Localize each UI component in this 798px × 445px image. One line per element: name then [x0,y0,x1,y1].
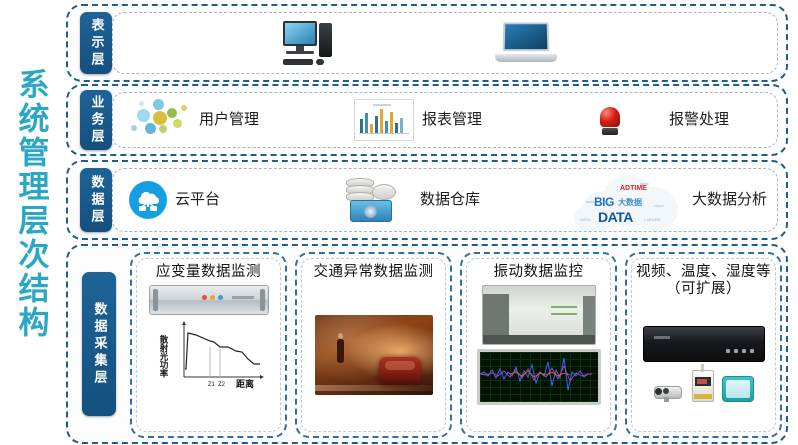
big-data-analysis-label: 大数据分析 [692,191,767,208]
database-disk-icon [344,178,396,222]
strain-chart-xlabel: 距离 [236,378,254,389]
item-desktop-computer[interactable] [283,21,335,65]
alarm-beacon-icon [599,105,621,135]
user-management-label: 用户管理 [199,111,259,128]
waveform-svg [480,352,592,396]
acquisition-cards: 应变量数据监测 [130,252,782,438]
desktop-computer-icon [283,21,335,65]
item-report-management[interactable]: 报表管理 [354,99,599,141]
strain-chart: Z1 Z2 距离 散射光功率 [150,319,268,391]
item-laptop-computer[interactable] [495,22,557,64]
strain-chart-ylabel: 散射光功率 [159,335,169,379]
dvr-recorder-icon [643,326,765,362]
card-strain-monitoring[interactable]: 应变量数据监测 [130,252,287,438]
layer-label-data: 数据层 [80,168,112,232]
sensor-row [654,370,754,402]
alarm-handling-label: 报警处理 [669,111,729,128]
bar-chart-icon [354,99,414,141]
cloud-platform-label: 云平台 [175,191,220,208]
layer-data-content: 云平台 数据仓库 [112,168,778,232]
card-title: 视频、温度、湿度等 （可扩展） [636,264,771,299]
strain-chart-svg: Z1 Z2 距离 散射光功率 [150,319,268,391]
vibration-equipment-photo [482,285,596,345]
card-video-temp-humidity[interactable]: 视频、温度、湿度等 （可扩展） [625,252,782,438]
card-vibration-monitoring[interactable]: 振动数据监控 [460,252,617,438]
page-title-text: 系统管理层次结构 [15,68,46,340]
layer-business-content: 用户管理 [112,92,778,148]
diagram-root: 系统管理层次结构 表示层 [0,0,798,445]
report-management-label: 报表管理 [422,111,482,128]
camera-icon [654,384,684,402]
bubble-network-icon [129,99,191,141]
tunnel-traffic-photo [315,315,433,395]
card-traffic-anomaly-monitoring[interactable]: 交通异常数据监测 [295,252,452,438]
cloud-circle-icon [129,181,167,219]
card-title: 应变量数据监测 [156,264,261,281]
laptop-computer-icon [495,22,557,64]
item-alarm-handling[interactable]: 报警处理 [599,105,729,135]
layer-presentation-content [112,12,778,74]
layer-label-text: 数据层 [90,175,103,226]
item-user-management[interactable]: 用户管理 [129,99,354,141]
card-title: 交通异常数据监测 [314,264,434,281]
layer-label-text: 业务层 [90,95,103,146]
cloud-glyph [129,181,167,219]
page-title: 系统管理层次结构 [6,54,54,354]
layer-label-text: 数据采集层 [93,302,106,387]
data-warehouse-label: 数据仓库 [420,191,480,208]
vibration-waveform-display [477,349,601,405]
strain-chart-xtick-z2: Z2 [218,382,226,388]
layer-acquisition: 数据采集层 应变量数据监测 [66,244,788,444]
strain-chart-xtick-z1: Z1 [208,382,216,388]
layer-label-text: 表示层 [90,18,103,69]
temperature-humidity-sensor-icon [692,370,714,402]
layer-business: 业务层 用户管理 [66,84,788,156]
item-big-data-analysis[interactable]: data large cloud DATA LARGER ADTIME 大数据 … [574,169,767,231]
layer-data: 数据层 云平台 [66,160,788,240]
item-cloud-platform[interactable]: 云平台 [129,181,344,219]
layer-label-acquisition: 数据采集层 [82,272,116,416]
touch-panel-icon [722,376,754,402]
layer-presentation: 表示层 [66,4,788,82]
big-data-wordcloud-icon: data large cloud DATA LARGER ADTIME 大数据 … [574,169,684,231]
layer-label-presentation: 表示层 [80,12,112,74]
strain-collector-device-icon [149,285,269,315]
layer-label-business: 业务层 [80,90,112,150]
card-title: 振动数据监控 [494,264,584,281]
item-data-warehouse[interactable]: 数据仓库 [344,178,574,222]
